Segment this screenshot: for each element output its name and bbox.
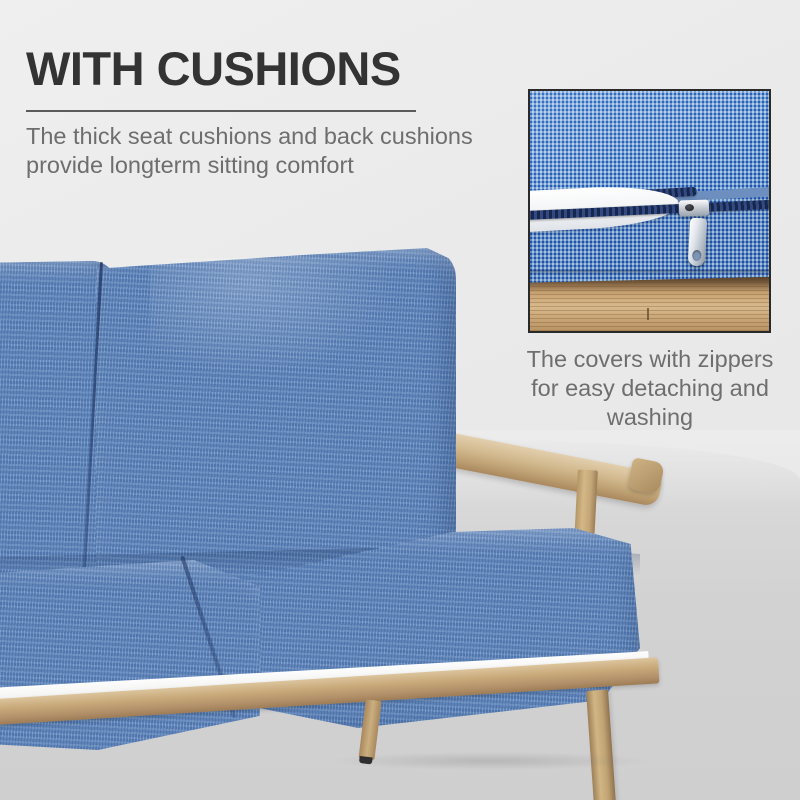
- zipper-detail-inset: [528, 89, 771, 333]
- fabric-bottom-shadow: [530, 270, 769, 275]
- leg-ground-shadow: [330, 752, 650, 770]
- product-feature-image: WITH CUSHIONS The thick seat cushions an…: [0, 0, 800, 800]
- subtitle-text: The thick seat cushions and back cushion…: [26, 122, 526, 179]
- deck-nail: [647, 308, 649, 320]
- metal-zipper-pull-tab: [688, 218, 707, 267]
- back-cushion-right: [96, 248, 456, 593]
- title-divider: [26, 110, 416, 112]
- metal-zipper-slider: [679, 200, 710, 217]
- wood-deck-planks: [530, 273, 769, 331]
- inset-caption-text: The covers with zippers for easy detachi…: [505, 345, 795, 432]
- page-title: WITH CUSHIONS: [26, 44, 401, 93]
- wooden-front-leg: [586, 689, 616, 800]
